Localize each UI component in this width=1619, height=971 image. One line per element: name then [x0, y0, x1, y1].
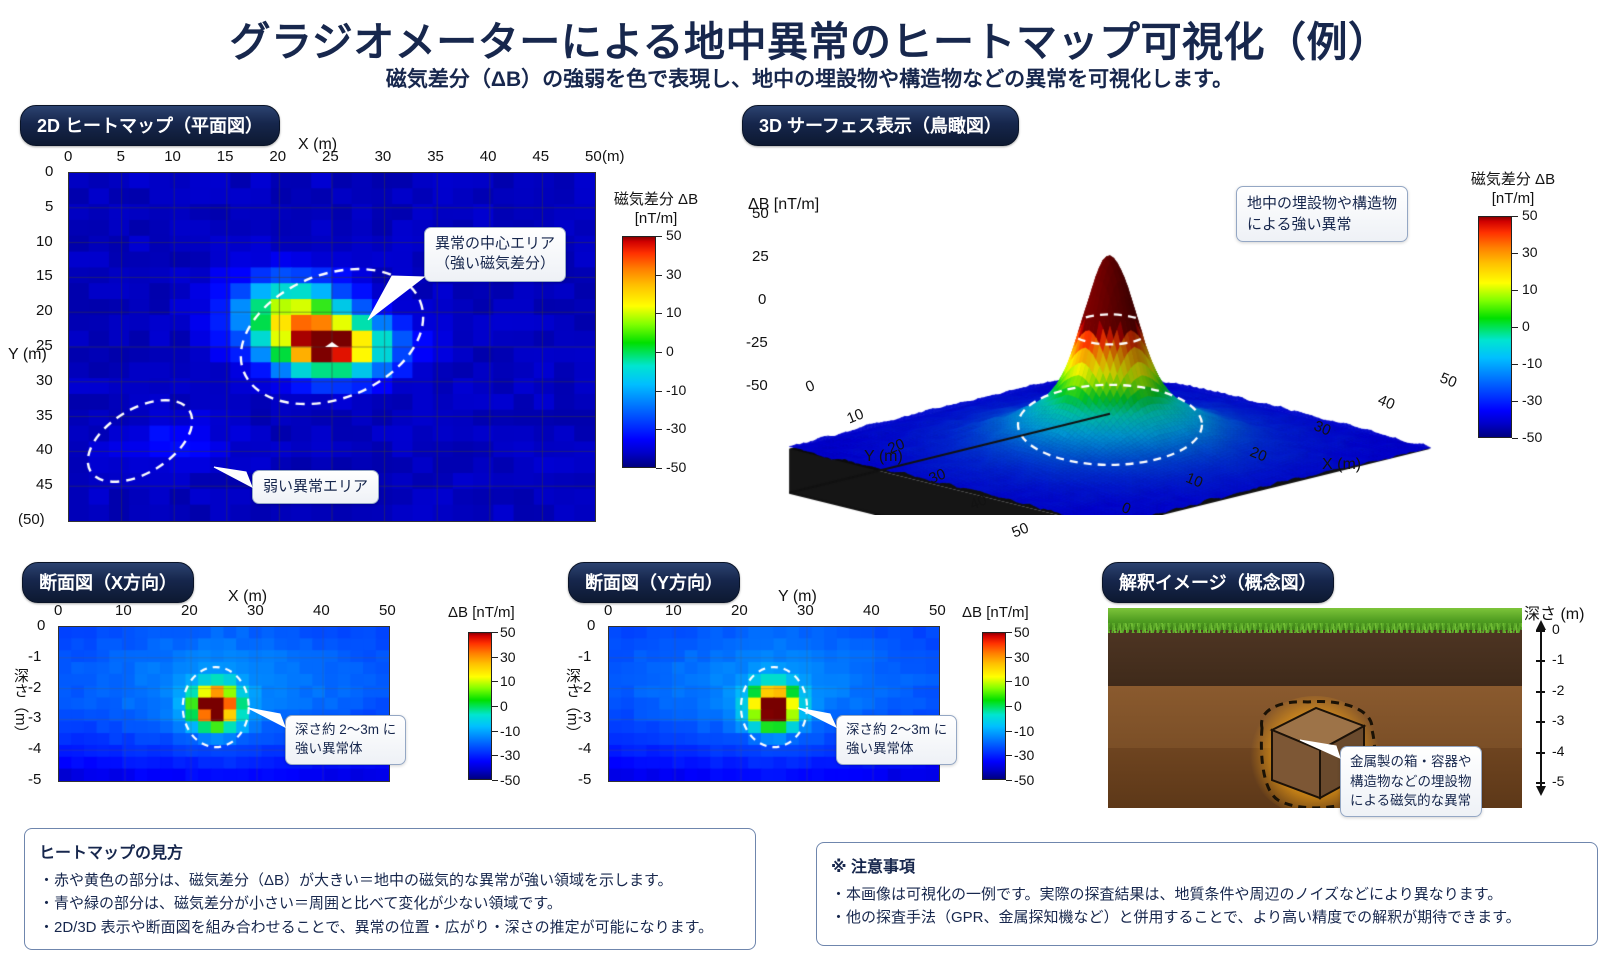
hm2d-yticks-tick-2: 10 [36, 233, 53, 250]
hm2d-cbticks-tick-5: -30 [666, 420, 686, 436]
badge-sectionY: 断面図（Y方向） [568, 562, 740, 603]
sy-cbticks-tick-4: -10 [1014, 723, 1034, 739]
badge-surface3d: 3D サーフェス表示（鳥瞰図） [742, 105, 1019, 146]
s3d-cbticks-tick-5: -30 [1522, 392, 1542, 408]
sx-yticks-tick-0: 0 [37, 617, 45, 634]
s3d-cbtickmark-6 [1512, 438, 1518, 439]
hm2d-yticks-tick-6: 30 [36, 372, 53, 389]
hm2d-xticks-tick-10: 50 [585, 148, 602, 165]
depth-tickmark-2 [1536, 691, 1545, 693]
hm2d-xticks-tick-6: 30 [375, 148, 392, 165]
callout-buried-metal: 金属製の箱・容器や 構造物などの埋設物 による磁気的な異常 [1340, 746, 1482, 817]
hm2d-xticks-tick-3: 15 [217, 148, 234, 165]
s3d-yticks-tick-5: 50 [1009, 519, 1031, 541]
hm2d-xticks-tick-8: 40 [480, 148, 497, 165]
s3d-cbticks-tick-1: 30 [1522, 244, 1538, 260]
soil-layer-topsoil [1108, 630, 1522, 686]
hm2d-yticks-tick-0: 0 [45, 163, 53, 180]
sy-cbticks-tick-3: 0 [1014, 698, 1022, 714]
sy-xticks-tick-0: 0 [604, 602, 612, 619]
hm2d-yticks-tick-4: 20 [36, 302, 53, 319]
s3d-cbticks-tick-6: -50 [1522, 429, 1542, 445]
sx-cbticks-tick-3: 0 [500, 698, 508, 714]
s3d-cbtickmark-2 [1512, 290, 1518, 291]
sx-xticks-tick-5: 50 [379, 602, 396, 619]
sy-cbticks-tick-5: -30 [1014, 747, 1034, 763]
sx-cbticks-mark-1 [492, 657, 498, 658]
sy-cbticks-mark-5 [1006, 755, 1012, 756]
s3d-cbtickmark-1 [1512, 253, 1518, 254]
sy-xticks-tick-1: 10 [665, 602, 682, 619]
callout-sectionY-line1: 深さ約 2〜3m に [846, 721, 947, 740]
sy-xticks-tick-4: 40 [863, 602, 880, 619]
sx-cbticks-tick-6: -50 [500, 772, 520, 788]
note-left-title: ヒートマップの見方 [39, 839, 741, 863]
hm2d-cbtickmark-3 [656, 352, 662, 353]
s3d-cbticks-tick-2: 10 [1522, 281, 1538, 297]
callout-weak-anomaly: 弱い異常エリア [252, 470, 379, 504]
sx-yticks-tick-2: -2 [28, 679, 41, 696]
sx-xticks-tick-1: 10 [115, 602, 132, 619]
sy-yticks-tick-2: -2 [578, 679, 591, 696]
s3d-cbtickmark-3 [1512, 327, 1518, 328]
hm2d-yticks-tick-10: (50) [18, 511, 45, 528]
sx-cbticks-mark-3 [492, 706, 498, 707]
depth-tick-label-0: 0 [1552, 621, 1560, 637]
hm2d-yticks-tick-8: 40 [36, 441, 53, 458]
sx-cbticks-tick-2: 10 [500, 673, 516, 689]
heatmap2d-colorbar-title-2: [nT/m] [601, 210, 711, 227]
depth-tick-label-2: -2 [1552, 682, 1564, 698]
hm2d-cbticks-tick-1: 30 [666, 266, 682, 282]
s3d-zticks-tick-4: -50 [746, 377, 768, 394]
sx-cbticks-mark-5 [492, 755, 498, 756]
sx-xticks-tick-4: 40 [313, 602, 330, 619]
hm2d-cbtickmark-2 [656, 313, 662, 314]
callout-anomaly-center: 異常の中心エリア （強い磁気差分） [424, 227, 566, 282]
sy-cbticks-tick-6: -50 [1014, 772, 1034, 788]
s3d-cbticks-tick-3: 0 [1522, 318, 1530, 334]
s3d-cbtickmark-5 [1512, 401, 1518, 402]
hm2d-cbtickmark-4 [656, 391, 662, 392]
callout-anomaly-center-line1: 異常の中心エリア [435, 234, 555, 254]
heatmap2d-x-unit: (m) [602, 148, 625, 165]
callout-sectionX-line1: 深さ約 2〜3m に [295, 721, 396, 740]
depth-tick-label-4: -4 [1552, 743, 1564, 759]
s3d-cbticks-tick-4: -10 [1522, 355, 1542, 371]
heatmap2d-colorbar-title-1: 磁気差分 ΔB [601, 188, 711, 209]
sy-cbticks-mark-0 [1006, 632, 1012, 633]
hm2d-cbticks-tick-6: -50 [666, 459, 686, 475]
s3d-zticks-tick-2: 0 [758, 291, 766, 308]
sy-cbticks-tick-2: 10 [1014, 673, 1030, 689]
surface3d-colorbar-title-1: 磁気差分 ΔB [1448, 168, 1578, 189]
hm2d-yticks-tick-3: 15 [36, 267, 53, 284]
note-box-how-to-read: ヒートマップの見方 ・赤や黄色の部分は、磁気差分（ΔB）が大きい＝地中の磁気的な… [24, 828, 756, 950]
hm2d-cbticks-tick-4: -10 [666, 382, 686, 398]
surface3d-colorbar-title-2: [nT/m] [1448, 190, 1578, 207]
sx-cbticks-tick-5: -30 [500, 747, 520, 763]
callout-sectionY-depth: 深さ約 2〜3m に 強い異常体 [836, 715, 957, 765]
surface3d-x-axis-title: X (m) [1322, 456, 1361, 474]
depth-tickmark-5 [1536, 782, 1545, 784]
badge-sectionX: 断面図（X方向） [22, 562, 194, 603]
hm2d-yticks-tick-1: 5 [45, 198, 53, 215]
sy-cbticks-mark-2 [1006, 681, 1012, 682]
callout-buried-metal-line3: による磁気的な異常 [1350, 791, 1472, 811]
depth-axis-arrows [1532, 620, 1550, 796]
page-title: グラジオメーターによる地中異常のヒートマップ可視化（例） [0, 8, 1619, 68]
callout-sectionX-depth: 深さ約 2〜3m に 強い異常体 [285, 715, 406, 765]
sy-xticks-tick-3: 30 [797, 602, 814, 619]
hm2d-xticks-tick-0: 0 [64, 148, 72, 165]
hm2d-cbticks-tick-3: 0 [666, 343, 674, 359]
sectionY-colorbar [982, 632, 1006, 780]
sx-yticks-tick-3: -3 [28, 709, 41, 726]
infographic-page: グラジオメーターによる地中異常のヒートマップ可視化（例） 磁気差分（ΔB）の強弱… [0, 0, 1619, 971]
callout-buried-object-3d: 地中の埋設物や構造物 による強い異常 [1236, 186, 1408, 242]
note-right-line-2: ・他の探査手法（GPR、金属探知機など）と併用することで、より高い精度での解釈が… [831, 906, 1583, 929]
callout-buried-metal-line1: 金属製の箱・容器や [1350, 752, 1472, 772]
sx-xticks-tick-3: 30 [247, 602, 264, 619]
sx-cbticks-tick-4: -10 [500, 723, 520, 739]
s3d-zticks-tick-0: 50 [752, 205, 769, 222]
sy-cbticks-mark-1 [1006, 657, 1012, 658]
depth-tick-label-3: -3 [1552, 712, 1564, 728]
sectionX-colorbar [468, 632, 492, 780]
sx-cbticks-mark-0 [492, 632, 498, 633]
sx-cbticks-mark-4 [492, 731, 498, 732]
hm2d-xticks-tick-2: 10 [164, 148, 181, 165]
callout-buried-object-3d-line2: による強い異常 [1247, 214, 1397, 235]
sectionX-colorbar-title: ΔB [nT/m] [448, 604, 548, 621]
sectionY-colorbar-title: ΔB [nT/m] [962, 604, 1062, 621]
note-box-caution: ※ 注意事項 ・本画像は可視化の一例です。実際の探査結果は、地質条件や周辺のノイ… [816, 842, 1598, 946]
callout-sectionX-line2: 強い異常体 [295, 740, 396, 759]
note-left-line-3: ・2D/3D 表示や断面図を組み合わせることで、異常の位置・広がり・深さの推定が… [39, 916, 741, 939]
badge-heatmap2d: 2D ヒートマップ（平面図） [20, 105, 280, 146]
note-left-line-2: ・青や緑の部分は、磁気差分が小さい＝周囲と比べて変化が少ない領域です。 [39, 892, 741, 915]
hm2d-yticks-tick-7: 35 [36, 407, 53, 424]
hm2d-xticks-tick-7: 35 [427, 148, 444, 165]
sy-cbticks-mark-3 [1006, 706, 1012, 707]
sx-yticks-tick-5: -5 [28, 771, 41, 788]
sy-cbticks-mark-6 [1006, 780, 1012, 781]
surface3d-y-axis-title: Y (m) [864, 448, 903, 466]
sy-yticks-tick-5: -5 [578, 771, 591, 788]
s3d-cbtickmark-4 [1512, 364, 1518, 365]
note-right-line-1: ・本画像は可視化の一例です。実際の探査結果は、地質条件や周辺のノイズなどにより異… [831, 883, 1583, 906]
sy-yticks-tick-3: -3 [578, 709, 591, 726]
hm2d-cbtickmark-1 [656, 275, 662, 276]
hm2d-cbtickmark-6 [656, 468, 662, 469]
depth-tick-label-1: -1 [1552, 651, 1564, 667]
sy-cbticks-mark-4 [1006, 731, 1012, 732]
note-right-title: ※ 注意事項 [831, 853, 1583, 877]
callout-anomaly-center-line2: （強い磁気差分） [435, 254, 555, 274]
callout-buried-metal-line2: 構造物などの埋設物 [1350, 772, 1472, 792]
sy-cbticks-tick-0: 50 [1014, 624, 1030, 640]
hm2d-cbticks-tick-2: 10 [666, 304, 682, 320]
sy-xticks-tick-2: 20 [731, 602, 748, 619]
s3d-cbticks-tick-0: 50 [1522, 207, 1538, 223]
note-left-line-1: ・赤や黄色の部分は、磁気差分（ΔB）が大きい＝地中の磁気的な異常が強い領域を示し… [39, 869, 741, 892]
hm2d-xticks-tick-4: 20 [269, 148, 286, 165]
hm2d-cbticks-tick-0: 50 [666, 227, 682, 243]
sx-cbticks-mark-6 [492, 780, 498, 781]
depth-tickmark-1 [1536, 660, 1545, 662]
sx-yticks-tick-1: -1 [28, 648, 41, 665]
depth-tickmark-4 [1536, 752, 1545, 754]
sy-xticks-tick-5: 50 [929, 602, 946, 619]
badge-interpretation: 解釈イメージ（概念図） [1102, 562, 1334, 603]
s3d-cbtickmark-0 [1512, 216, 1518, 217]
sy-yticks-tick-1: -1 [578, 648, 591, 665]
callout-sectionY-line2: 強い異常体 [846, 740, 947, 759]
s3d-zticks-tick-3: -25 [746, 334, 768, 351]
surface3d-colorbar [1478, 216, 1512, 438]
s3d-zticks-tick-1: 25 [752, 248, 769, 265]
sx-yticks-tick-4: -4 [28, 740, 41, 757]
page-subtitle: 磁気差分（ΔB）の強弱を色で表現し、地中の埋設物や構造物などの異常を可視化します… [0, 63, 1619, 93]
s3d-xticks-tick-5: 50 [1437, 369, 1459, 391]
hm2d-cbtickmark-5 [656, 429, 662, 430]
sx-xticks-tick-2: 20 [181, 602, 198, 619]
callout-buried-object-3d-line1: 地中の埋設物や構造物 [1247, 193, 1397, 214]
grass-icon [1108, 608, 1522, 630]
hm2d-xticks-tick-9: 45 [532, 148, 549, 165]
hm2d-yticks-tick-9: 45 [36, 476, 53, 493]
depth-tick-label-5: -5 [1552, 773, 1564, 789]
hm2d-xticks-tick-1: 5 [117, 148, 125, 165]
sx-cbticks-mark-2 [492, 681, 498, 682]
hm2d-xticks-tick-5: 25 [322, 148, 339, 165]
sx-cbticks-tick-0: 50 [500, 624, 516, 640]
hm2d-yticks-tick-5: 25 [36, 337, 53, 354]
heatmap2d-colorbar [622, 236, 656, 468]
sx-cbticks-tick-1: 30 [500, 649, 516, 665]
depth-tickmark-3 [1536, 721, 1545, 723]
sx-xticks-tick-0: 0 [54, 602, 62, 619]
sy-yticks-tick-4: -4 [578, 740, 591, 757]
sy-yticks-tick-0: 0 [587, 617, 595, 634]
sy-cbticks-tick-1: 30 [1014, 649, 1030, 665]
depth-tickmark-0 [1536, 630, 1545, 632]
hm2d-cbtickmark-0 [656, 236, 662, 237]
